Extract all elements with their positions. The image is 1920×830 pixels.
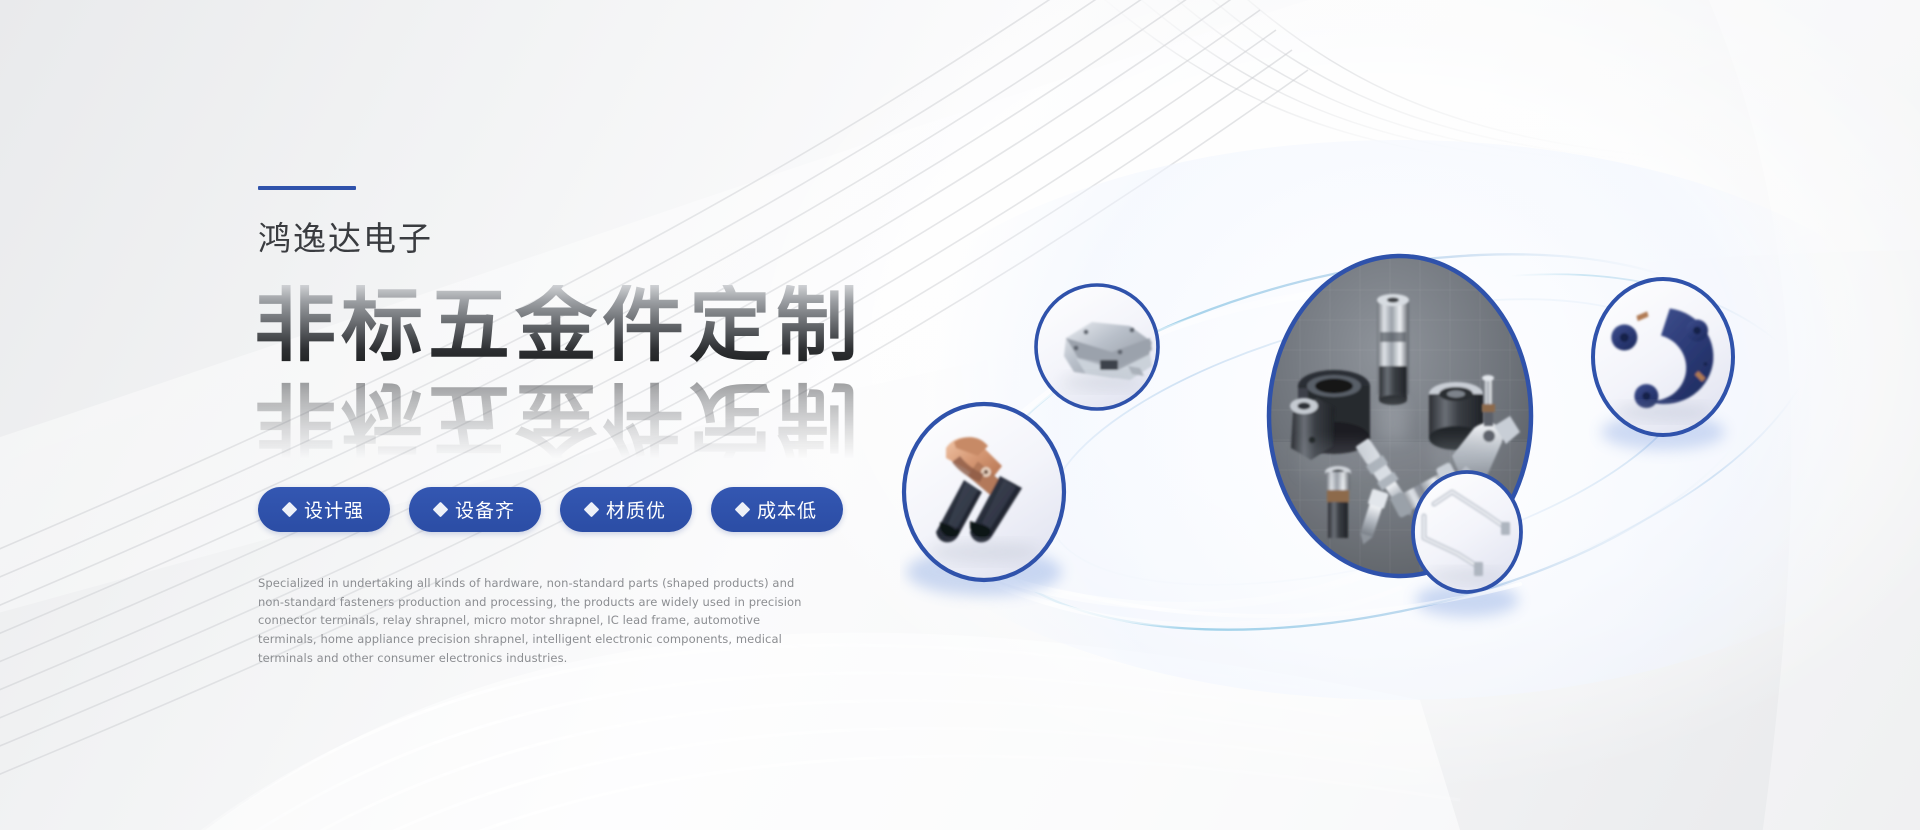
- headline-group: 非标五金件定制 非标五金件定制: [254, 285, 898, 435]
- diamond-icon: [735, 502, 751, 518]
- page-title: 非标五金件定制: [254, 285, 898, 367]
- company-name: 鸿逸达电子: [258, 222, 898, 255]
- accent-bar: [258, 186, 356, 190]
- feature-badge-equipment[interactable]: 设备齐: [409, 487, 541, 532]
- feature-badge-label: 设备齐: [455, 496, 515, 523]
- feature-badge-list: 设计强 设备齐 材质优 成本低: [258, 487, 898, 532]
- feature-badge-label: 材质优: [606, 496, 666, 523]
- satellite-retaining-clip: [1593, 279, 1733, 435]
- satellite-terminal-pins: [1413, 472, 1521, 592]
- diamond-icon: [433, 502, 449, 518]
- collage-graphics: [900, 180, 1910, 650]
- hero-banner: 鸿逸达电子 非标五金件定制 非标五金件定制 设计强 设备齐 材质优 成本低: [0, 0, 1920, 830]
- diamond-icon: [584, 502, 600, 518]
- product-collage: [900, 180, 1910, 650]
- feature-badge-material[interactable]: 材质优: [560, 487, 692, 532]
- hero-text-block: 鸿逸达电子 非标五金件定制 非标五金件定制 设计强 设备齐 材质优 成本低: [258, 186, 898, 667]
- diamond-icon: [282, 502, 298, 518]
- feature-badge-label: 成本低: [757, 496, 817, 523]
- headline-reflection: 非标五金件定制: [254, 377, 863, 459]
- feature-badge-label: 设计强: [304, 496, 364, 523]
- feature-badge-cost[interactable]: 成本低: [711, 487, 843, 532]
- description-paragraph: Specialized in undertaking all kinds of …: [258, 574, 818, 667]
- satellite-stamped-enclosure: [1036, 285, 1158, 409]
- satellite-battery-clamp: [904, 404, 1064, 580]
- feature-badge-design[interactable]: 设计强: [258, 487, 390, 532]
